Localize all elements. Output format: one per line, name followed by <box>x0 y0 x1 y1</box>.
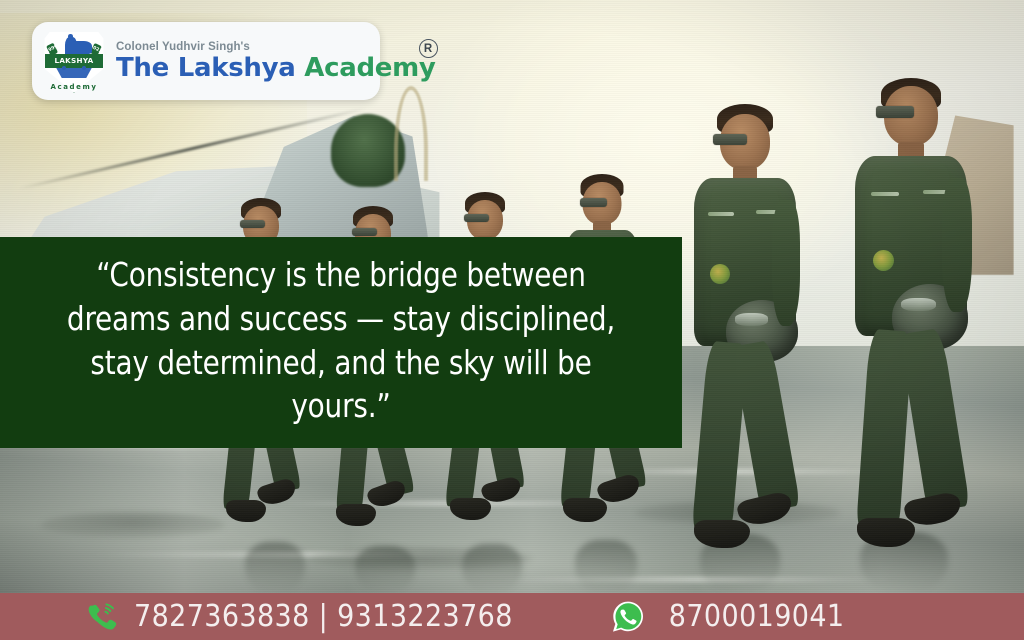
quote-text: “Consistency is the bridge between dream… <box>52 253 629 429</box>
registered-trademark-icon: R <box>419 39 438 58</box>
pilot-boot <box>450 498 491 520</box>
squadron-patch <box>710 264 730 284</box>
phone-contact-group[interactable]: 7827363838 | 9313223768 <box>86 599 513 634</box>
pilot-sunglasses <box>876 106 914 118</box>
pilot-boot <box>857 518 915 547</box>
pilot-sunglasses <box>464 214 489 222</box>
pilot-leg <box>732 339 801 511</box>
poster-canvas: 1999 2023 LAKSHYA Academy Colonel Yudhvi… <box>0 0 1024 640</box>
lakshya-badge-icon: 1999 2023 LAKSHYA Academy <box>42 28 106 94</box>
pilot-leg <box>899 327 970 512</box>
puddle <box>41 512 225 538</box>
whatsapp-number[interactable]: 8700019041 <box>669 599 845 634</box>
pilot-arm <box>942 178 972 312</box>
quote-overlay-panel: “Consistency is the bridge between dream… <box>0 237 682 448</box>
logo-text-block: Colonel Yudhvir Singh's The Lakshya Acad… <box>106 41 436 81</box>
pilot-sunglasses <box>713 134 747 145</box>
pilot-boot <box>563 498 607 522</box>
whatsapp-icon <box>611 600 645 634</box>
badge-banner: LAKSHYA <box>45 54 104 67</box>
badge-dot <box>82 66 86 70</box>
whatsapp-contact-group[interactable]: 8700019041 <box>611 599 845 634</box>
ringing-phone-icon <box>86 601 118 633</box>
badge-arc-label: Academy <box>42 83 106 91</box>
pilot-arm <box>772 200 800 326</box>
squadron-patch <box>873 250 894 271</box>
shoulder-tab <box>871 192 899 196</box>
logo-name: The Lakshya Academy <box>116 55 436 81</box>
logo-name-secondary: Academy <box>304 53 435 83</box>
shoulder-tab <box>708 212 734 216</box>
badge-lower-emblem <box>56 68 92 79</box>
pilot-figure-foreground <box>686 104 804 602</box>
contact-bar: 7827363838 | 9313223768 8700019041 <box>0 593 1024 640</box>
pilot-sunglasses <box>580 198 607 207</box>
pilot-boot <box>226 500 266 522</box>
logo-name-primary: The Lakshya <box>116 53 304 83</box>
pilot-boot <box>336 504 376 526</box>
phone-numbers[interactable]: 7827363838 | 9313223768 <box>134 599 513 634</box>
badge-banner-label: LAKSHYA <box>54 56 93 65</box>
pilot-sunglasses <box>352 228 377 236</box>
helmet-visor <box>901 298 936 311</box>
pilot-sunglasses <box>240 220 265 228</box>
helmet-visor <box>735 313 768 325</box>
pilot-figure-foreground <box>846 78 976 602</box>
logo-card: 1999 2023 LAKSHYA Academy Colonel Yudhvi… <box>32 22 380 100</box>
pilot-boot <box>694 520 750 548</box>
